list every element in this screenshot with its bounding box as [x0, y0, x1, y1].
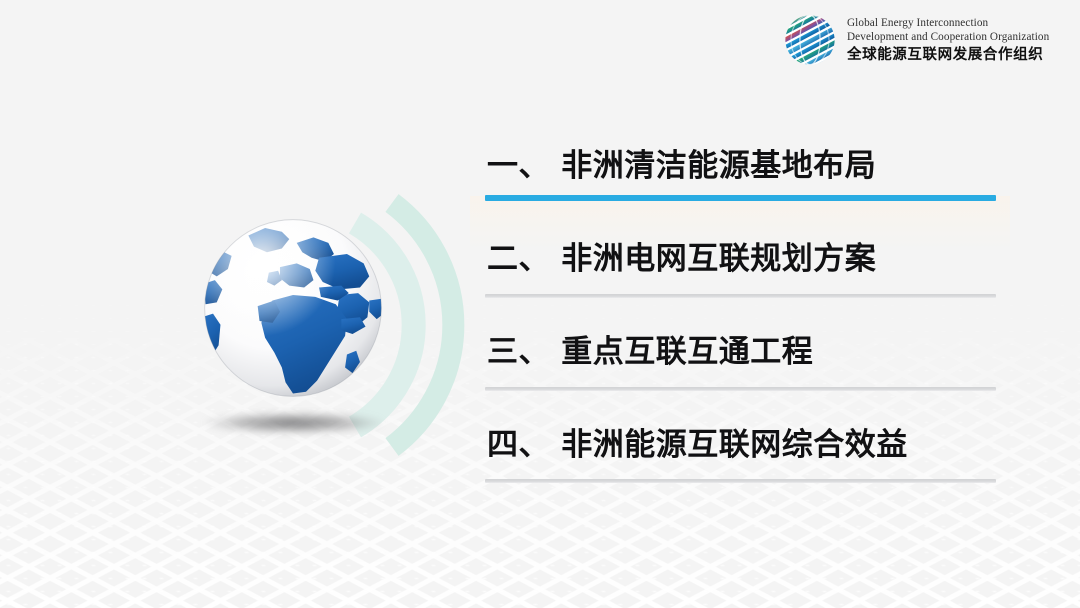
earth-globe-africa-europe-icon: [200, 215, 386, 401]
logo-line-chinese: 全球能源互联网发展合作组织: [847, 48, 1049, 63]
globe-drop-shadow: [205, 412, 383, 434]
agenda-item-2-label: 二、 非洲电网互联规划方案: [487, 239, 876, 279]
agenda-item-4-label: 四、 非洲能源互联网综合效益: [487, 425, 908, 465]
agenda-item-2-divider: [485, 294, 996, 298]
agenda-item-1[interactable]: 一、 非洲清洁能源基地布局: [487, 138, 999, 231]
agenda-item-3[interactable]: 三、 重点互联互通工程: [487, 324, 999, 417]
organization-logo: Global Energy Interconnection Developmen…: [782, 12, 1049, 68]
agenda-item-1-active-underline: [485, 195, 996, 201]
globe-illustration: [150, 185, 470, 465]
agenda-item-4-divider: [485, 479, 996, 483]
logo-text-block: Global Energy Interconnection Developmen…: [847, 17, 1049, 63]
logo-line-2: Development and Cooperation Organization: [847, 31, 1049, 45]
agenda-item-3-divider: [485, 387, 996, 391]
agenda-list: 一、 非洲清洁能源基地布局 二、 非洲电网互联规划方案 三、 重点互联互通工程 …: [487, 138, 999, 487]
agenda-item-3-label: 三、 重点互联互通工程: [487, 332, 813, 372]
logo-line-1: Global Energy Interconnection: [847, 17, 1049, 31]
geidco-striped-globe-logo: [782, 12, 838, 68]
agenda-item-4[interactable]: 四、 非洲能源互联网综合效益: [487, 417, 999, 487]
agenda-item-1-label: 一、 非洲清洁能源基地布局: [487, 146, 876, 186]
presentation-slide: Global Energy Interconnection Developmen…: [0, 0, 1080, 608]
agenda-item-2[interactable]: 二、 非洲电网互联规划方案: [487, 231, 999, 324]
